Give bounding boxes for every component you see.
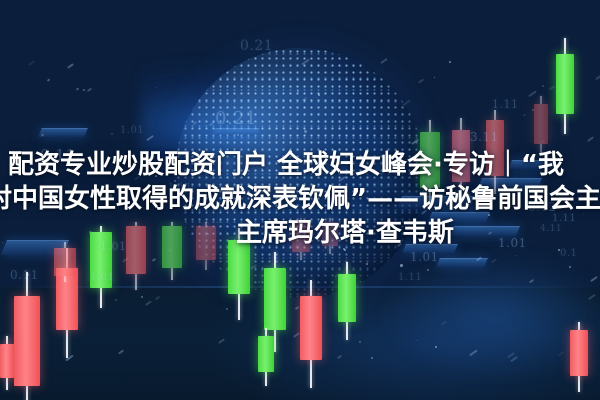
headline-line-2: 对中国女性取得的成就深表钦佩”——访秘鲁前国会主席玛尔塔: [0, 182, 600, 216]
particle-dot: [115, 299, 117, 301]
news-banner-image: 0.110.210.213.111.111.010.121.111.011.01…: [0, 0, 600, 400]
candlestick-body: [570, 330, 588, 376]
price-number-label: 1.01: [100, 240, 127, 253]
particle-dot: [400, 264, 403, 267]
price-number-label: 0.21: [215, 108, 257, 129]
price-number-label: 0.11: [10, 268, 39, 282]
price-number-label: 1.11: [492, 98, 519, 111]
candlestick-body: [14, 296, 40, 386]
price-number-label: 4.11: [540, 224, 562, 234]
price-number-label: 0.21: [240, 38, 273, 54]
particle-dot: [359, 341, 361, 343]
headline-line-1: 配资专业炒股配资门户 全球妇女峰会·专访｜“我: [8, 148, 564, 182]
price-number-label: 0.1: [560, 248, 577, 259]
candlestick-body: [126, 226, 146, 274]
particle-dot: [366, 263, 368, 265]
price-number-label: 1.01: [90, 272, 114, 283]
particle-dot: [449, 61, 451, 63]
candlestick-body: [54, 248, 76, 276]
candlestick-body: [162, 226, 182, 268]
candlestick-body: [0, 344, 14, 378]
price-number-label: 1.11: [398, 272, 422, 283]
price-number-label: 1.01: [498, 236, 527, 250]
price-number-label: 1.01: [410, 250, 439, 264]
candlestick-body: [258, 336, 274, 372]
candlestick-body: [534, 104, 548, 144]
price-number-label: 1.01: [120, 125, 144, 136]
particle-dot: [371, 357, 373, 359]
candlestick-body: [338, 274, 356, 322]
candlestick-body: [196, 226, 216, 260]
price-number-label: 3.11: [470, 130, 499, 144]
headline-line-3: 主席玛尔塔·查韦斯: [236, 216, 454, 250]
